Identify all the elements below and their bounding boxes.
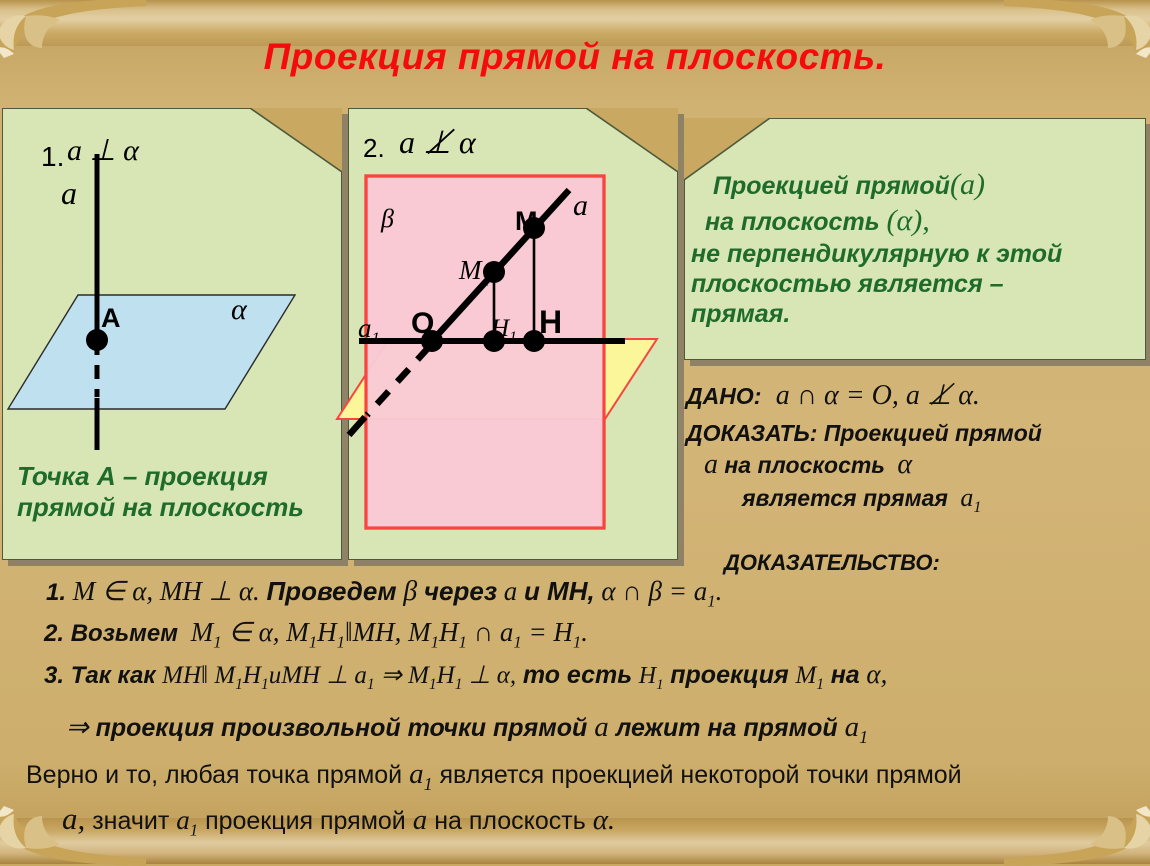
- given-label: ДАНО:: [686, 383, 761, 409]
- given-math: a ∩ α = O, a ⊥̸ α.: [776, 380, 980, 411]
- folded-corner-decoration: [586, 108, 678, 177]
- proof-line-5: Верно и то, любая точка прямой a1 являет…: [26, 758, 962, 795]
- proof-line-3-math-alpha: α,: [866, 659, 887, 689]
- proof-line-4-text-2: лежит на прямой: [616, 714, 838, 742]
- case-2-point-M-label: M: [515, 206, 538, 237]
- proof-line-4-math-a1: a1: [845, 711, 868, 743]
- proof-line-1-text-3: и MH,: [524, 576, 595, 606]
- proof-line-1-text-2: через: [424, 576, 497, 606]
- panel-statement: Проекцией прямой(a) на плоскость (α), не…: [684, 118, 1146, 360]
- prove-math-alpha: α: [897, 449, 912, 480]
- proof-line-6-text-1: значит: [92, 807, 169, 835]
- case-2-point-O-label: O: [411, 307, 434, 341]
- case-2-line-a-label: a: [573, 189, 588, 223]
- proof-line-6-text-2: проекция прямой: [205, 807, 406, 835]
- given-block: ДАНО: a ∩ α = O, a ⊥̸ α.: [686, 378, 1148, 412]
- case-1-caption-line1: Точка А – проекция: [17, 461, 268, 491]
- case-1-caption-line2: прямой на плоскость: [17, 492, 304, 522]
- proof-line-6: a, значит a1 проекция прямой a на плоско…: [62, 801, 615, 840]
- proof-line-6-math-alpha: α.: [593, 804, 615, 836]
- prove-block: ДОКАЗАТЬ: Проекцией прямой a на плоскост…: [686, 420, 1150, 517]
- page-title: Проекция прямой на плоскость.: [0, 36, 1150, 78]
- proof-line-3-text: то есть: [523, 661, 632, 689]
- proof-line-5-text-2: является проекцией некоторой точки прямо…: [440, 761, 962, 789]
- proof-line-3: 3. Так как MH‖ M1H1иMH ⊥ a1 ⇒ M1H1 ⊥ α, …: [44, 659, 887, 694]
- case-2-point-H1-label: H1: [491, 315, 517, 347]
- panel-case-1: 1. a ⊥ α a A α Точка А – проекция прямой…: [2, 108, 342, 560]
- proof-line-3-math-H1: H1: [639, 663, 664, 689]
- proof-line-2: 2. Возьмем M1 ∈ α, M1H1‖MH, M1H1 ∩ a1 = …: [44, 617, 588, 652]
- statement-line1: Проекцией прямой: [713, 172, 950, 200]
- proof-line-3-text-2: проекция: [670, 661, 789, 689]
- proof-line-2-number: 2.: [44, 620, 64, 647]
- case-2-line-a1-label: a1: [358, 313, 380, 348]
- statement-line3: не перпендикулярную к этой: [691, 240, 1062, 268]
- proof-line-3-text-3: на: [831, 661, 860, 689]
- case-2-number: 2.: [363, 133, 385, 164]
- proof-line-6-math-a2: a: [413, 804, 428, 836]
- scroll-curl-bottom-right-icon: [1004, 804, 1150, 866]
- case-2-plane-beta-label: β: [381, 204, 394, 234]
- proof-line-3-math-1: MH‖ M1H1иMH ⊥ a1 ⇒ M1H1 ⊥ α,: [162, 662, 516, 689]
- statement-text: Проекцией прямой(a) на плоскость (α), не…: [691, 167, 1143, 329]
- case-2-condition: a ⊥̸ α: [399, 123, 476, 161]
- prove-text-3: является прямая: [742, 485, 948, 511]
- case-1-point-label: A: [101, 303, 121, 334]
- proof-line-1-math-1: M ∈ α, MH ⊥ α.: [73, 576, 260, 606]
- proof-line-4: ⇒ проекция произвольной точки прямой a л…: [66, 711, 868, 748]
- proof-line-2-math: M1 ∈ α, M1H1‖MH, M1H1 ∩ a1 = H1.: [191, 617, 588, 647]
- proof-header: ДОКАЗАТЕЛЬСТВО:: [724, 550, 940, 576]
- case-2-point-M1-label: M1: [459, 255, 490, 290]
- prove-math-a1: a1: [960, 483, 981, 512]
- proof-line-4-math-a: a: [594, 711, 609, 743]
- proof-line-6-math-a1: a1: [176, 805, 198, 835]
- proof-line-1-math-a: a: [504, 576, 518, 606]
- proof-line-5-math-a1: a1: [409, 758, 432, 790]
- proof-line-2-keyword: Возьмем: [71, 620, 178, 647]
- statement-line5: прямая.: [691, 300, 790, 328]
- proof-line-6-text-3: на плоскость: [434, 807, 586, 835]
- proof-line-5-text-1: Верно и то, любая точка прямой: [26, 761, 402, 789]
- prove-text-1: Проекцией прямой: [824, 420, 1042, 446]
- statement-line2: на плоскость: [705, 208, 880, 236]
- statement-line4: плоскостью является –: [691, 270, 1004, 298]
- proof-line-3-number: 3.: [44, 662, 64, 689]
- prove-label: ДОКАЗАТЬ:: [686, 420, 817, 446]
- case-1-plane-label: α: [231, 293, 247, 327]
- proof-line-1-number: 1.: [46, 579, 66, 606]
- proof-line-1-text-1: Проведем: [266, 576, 396, 606]
- panel-case-2: 2. a ⊥̸ α β M a M1 a1 O H1 H: [348, 108, 678, 560]
- statement-line1-math: (a): [950, 168, 985, 201]
- proof-line-1-math-end: α ∩ β = a1.: [601, 576, 722, 606]
- proof-line-3-math-M1: M1: [795, 662, 824, 689]
- case-2-point-H-label: H: [539, 304, 562, 341]
- plane-alpha-shape: [8, 295, 295, 409]
- proof-line-1-math-beta: β: [403, 576, 417, 607]
- proof-line-4-arrow-icon: ⇒: [66, 712, 89, 742]
- proof-line-4-text-1: проекция произвольной точки прямой: [96, 714, 588, 742]
- case-1-caption: Точка А – проекция прямой на плоскость: [17, 461, 337, 522]
- proof-line-1: 1. M ∈ α, MH ⊥ α. Проведем β через a и M…: [46, 576, 722, 611]
- prove-text-2: на плоскость: [724, 452, 885, 478]
- case-1-diagram: [3, 109, 343, 469]
- proof-line-6-math-a: a,: [62, 801, 85, 836]
- prove-math-a: a: [704, 449, 718, 480]
- proof-line-3-keyword: Так как: [71, 662, 156, 689]
- statement-line2-math: (α),: [887, 204, 930, 237]
